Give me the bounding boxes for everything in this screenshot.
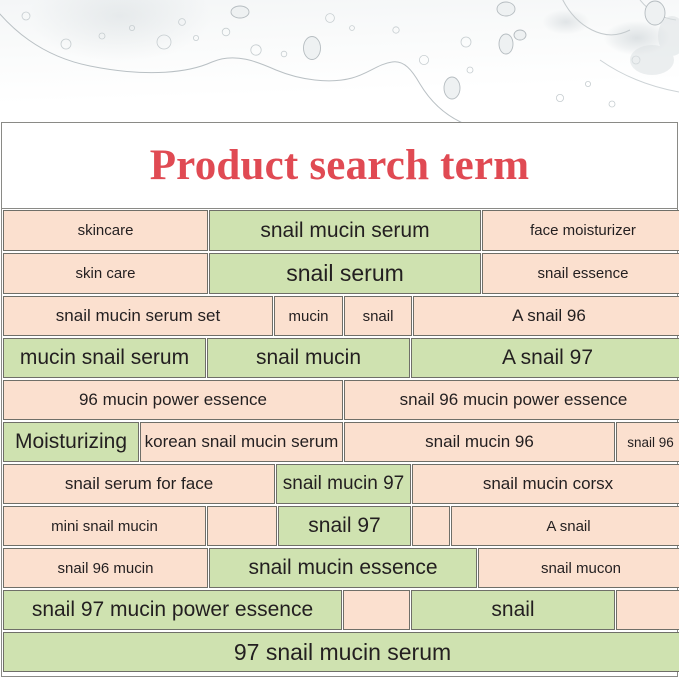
keyword-cell[interactable]: skincare (3, 210, 208, 251)
title-block: Product search term (2, 123, 677, 209)
keyword-cell-empty[interactable] (207, 506, 277, 546)
keyword-cell[interactable]: 96 mucin power essence (3, 380, 343, 420)
keyword-cell[interactable]: snail essence (482, 253, 679, 294)
gel-texture-hero-image (0, 0, 679, 122)
keyword-cell[interactable]: skin care (3, 253, 208, 294)
keyword-row: skin caresnail serumsnail essence (2, 252, 677, 295)
keyword-cell[interactable]: snail mucin serum set (3, 296, 273, 336)
keyword-cell[interactable]: mini snail mucin (3, 506, 206, 546)
gel-texture-illustration (0, 0, 679, 122)
keyword-cell[interactable]: snail mucin essence (209, 548, 477, 588)
keyword-cell[interactable]: snail mucin 97 (276, 464, 411, 504)
keyword-cell[interactable]: snail (411, 590, 615, 630)
keyword-cell-empty[interactable] (412, 506, 450, 546)
keyword-cell[interactable]: snail mucon (478, 548, 679, 588)
page-title: Product search term (150, 144, 530, 187)
keyword-cell[interactable]: snail 97 (278, 506, 411, 546)
keyword-cell[interactable]: snail 96 mucin (3, 548, 208, 588)
content-panel: Product search term skincaresnail mucin … (1, 122, 678, 677)
keyword-cell[interactable]: A snail 96 (413, 296, 679, 336)
keyword-cell[interactable]: snail 96 mucin power essence (344, 380, 679, 420)
keyword-cell[interactable]: snail mucin serum (209, 210, 481, 251)
keyword-row: skincaresnail mucin serumface moisturize… (2, 209, 677, 252)
keyword-cell[interactable]: snail (344, 296, 412, 336)
keyword-cell[interactable]: A snail (451, 506, 679, 546)
keyword-cell[interactable]: snail mucin (207, 338, 410, 378)
keyword-row: snail mucin serum setmucinsnailA snail 9… (2, 295, 677, 337)
keyword-row: mucin snail serumsnail mucinA snail 97 (2, 337, 677, 379)
keyword-row: 97 snail mucin serum (2, 631, 677, 673)
keyword-cell[interactable]: snail 97 mucin power essence (3, 590, 342, 630)
keyword-row: snail serum for facesnail mucin 97snail … (2, 463, 677, 505)
keyword-row: Moisturizingkorean snail mucin serumsnai… (2, 421, 677, 463)
keyword-row: 96 mucin power essencesnail 96 mucin pow… (2, 379, 677, 421)
keyword-cell-empty[interactable] (616, 590, 679, 630)
keyword-cell[interactable]: snail serum for face (3, 464, 275, 504)
keyword-cell[interactable]: mucin snail serum (3, 338, 206, 378)
product-search-term-infographic: Product search term skincaresnail mucin … (0, 0, 679, 679)
keyword-cell[interactable]: korean snail mucin serum (140, 422, 343, 462)
keyword-cell[interactable]: 97 snail mucin serum (3, 632, 679, 672)
keyword-grid: skincaresnail mucin serumface moisturize… (2, 209, 677, 673)
keyword-cell[interactable]: snail mucin corsx (412, 464, 679, 504)
keyword-cell[interactable]: Moisturizing (3, 422, 139, 462)
keyword-cell[interactable]: snail 96 (616, 422, 679, 462)
keyword-cell[interactable]: snail mucin 96 (344, 422, 615, 462)
keyword-row: snail 97 mucin power essencesnail (2, 589, 677, 631)
keyword-cell[interactable]: face moisturizer (482, 210, 679, 251)
keyword-cell[interactable]: mucin (274, 296, 343, 336)
keyword-cell[interactable]: A snail 97 (411, 338, 679, 378)
keyword-cell[interactable]: snail serum (209, 253, 481, 294)
keyword-cell-empty[interactable] (343, 590, 410, 630)
keyword-row: snail 96 mucinsnail mucin essencesnail m… (2, 547, 677, 589)
keyword-row: mini snail mucinsnail 97A snail (2, 505, 677, 547)
